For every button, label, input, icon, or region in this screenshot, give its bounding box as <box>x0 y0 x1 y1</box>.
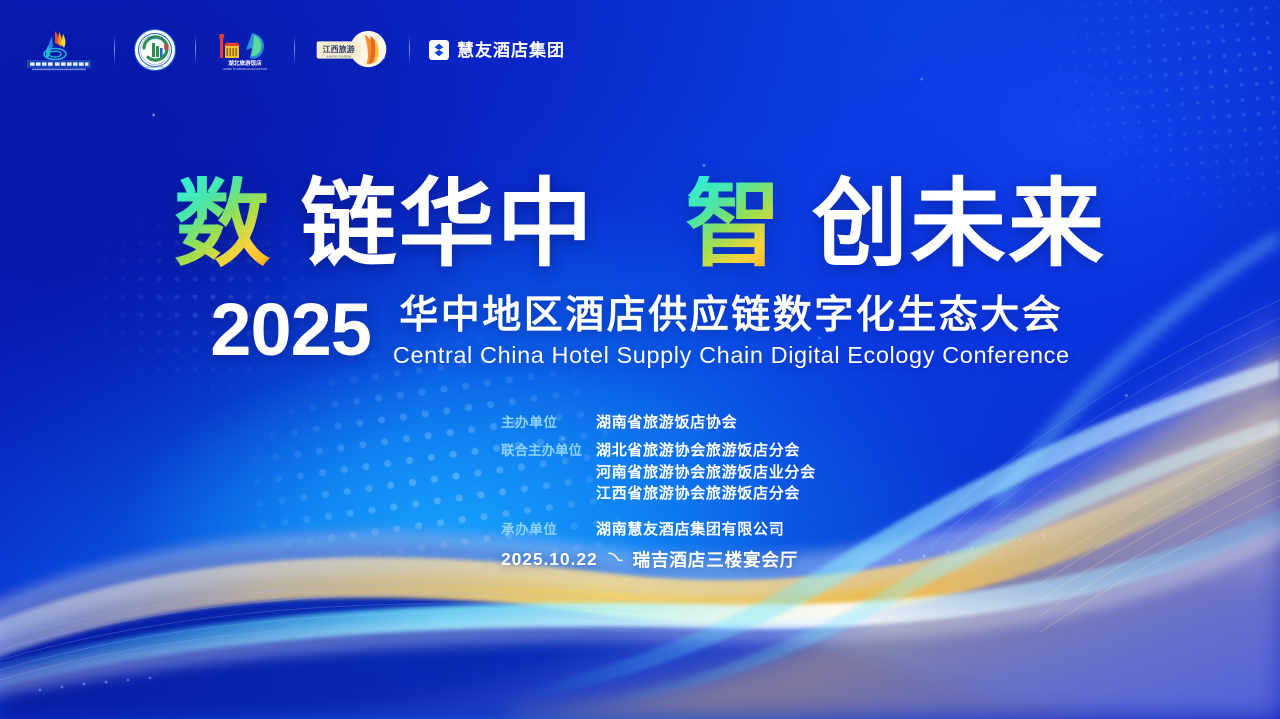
headline-word-1: 数 链华中 <box>174 176 595 274</box>
organizer-value: 湖北省旅游协会旅游饭店分会 <box>596 440 816 461</box>
svg-text:旅游饭店协会: 旅游饭店协会 <box>147 36 163 40</box>
organizer-label: 主办单位 <box>501 415 596 431</box>
organizer-value: 湖南慧友酒店集团有限公司 <box>596 519 784 540</box>
event-year: 2025 <box>210 296 371 364</box>
subtitle-block: 2025 华中地区酒店供应链数字化生态大会 Central China Hote… <box>0 296 1280 369</box>
subtitle-chinese: 华中地区酒店供应链数字化生态大会 <box>399 296 1063 337</box>
headline-white-chars-2: 创未来 <box>812 176 1106 274</box>
organizer-row: 主办单位 湖南省旅游饭店协会 <box>501 412 816 433</box>
huiyou-hotel-group-logo[interactable]: 慧友酒店集团 <box>428 39 565 61</box>
headline-gradient-char-1: 数 <box>174 176 272 274</box>
organizer-spacer <box>501 511 816 519</box>
organizer-list: 主办单位 湖南省旅游饭店协会 联合主办单位 湖北省旅游协会旅游饭店分会 河南省旅… <box>501 412 816 547</box>
event-date: 2025.10.22 <box>501 549 598 570</box>
svg-text:江西旅游: 江西旅游 <box>323 44 355 54</box>
headline-word-2: 智 创未来 <box>685 176 1106 274</box>
location-pin-icon <box>607 549 624 570</box>
subtitle-english: Central China Hotel Supply Chain Digital… <box>393 342 1070 369</box>
organizer-row: 承办单位 湖南慧友酒店集团有限公司 <box>501 519 816 540</box>
svg-text:湖北旅游饭店: 湖北旅游饭店 <box>228 59 262 67</box>
organizer-value: 河南省旅游协会旅游饭店业分会 <box>596 462 816 483</box>
hunan-tourism-hotel-association-logo[interactable] <box>22 28 96 72</box>
svg-text:JIANGXI TOURISM: JIANGXI TOURISM <box>326 54 352 58</box>
conference-banner: 旅游饭店协会 ASSOCIATION <box>0 0 1280 719</box>
organizer-row: 联合主办单位 湖北省旅游协会旅游饭店分会 河南省旅游协会旅游饭店业分会 江西省旅… <box>501 440 816 504</box>
svg-text:ASSOCIATION: ASSOCIATION <box>146 65 164 69</box>
hubei-tourism-association-logo[interactable]: 旅游饭店协会 ASSOCIATION <box>133 28 177 72</box>
headline-gradient-char-2: 智 <box>685 176 783 274</box>
headline-white-chars-1: 链华中 <box>301 176 595 274</box>
event-venue: 瑞吉酒店三楼宴会厅 <box>633 547 799 572</box>
organizer-label: 联合主办单位 <box>501 443 596 459</box>
headline: 数 链华中 智 创未来 <box>0 176 1280 274</box>
date-venue-line: 2025.10.22 瑞吉酒店三楼宴会厅 <box>501 547 798 572</box>
organizer-value: 湖南省旅游饭店协会 <box>596 412 737 433</box>
jiangxi-tourism-association-logo[interactable]: 江西旅游 JIANGXI TOURISM <box>313 29 391 71</box>
logo-divider <box>114 35 115 65</box>
organizer-value: 江西省旅游协会旅游饭店分会 <box>596 483 816 504</box>
svg-text:HUBEI TOURISM ASSOCIATION: HUBEI TOURISM ASSOCIATION <box>223 67 268 71</box>
logo-bar: 旅游饭店协会 ASSOCIATION <box>22 28 565 72</box>
organizer-label: 承办单位 <box>501 522 596 538</box>
diamond-icon <box>428 39 450 61</box>
sponsor-wordmark: 慧友酒店集团 <box>457 42 565 59</box>
logo-divider <box>409 35 410 65</box>
logo-divider <box>195 35 196 65</box>
logo-divider <box>294 35 295 65</box>
henan-tourism-association-logo[interactable]: 湖北旅游饭店 HUBEI TOURISM ASSOCIATION <box>214 28 276 72</box>
